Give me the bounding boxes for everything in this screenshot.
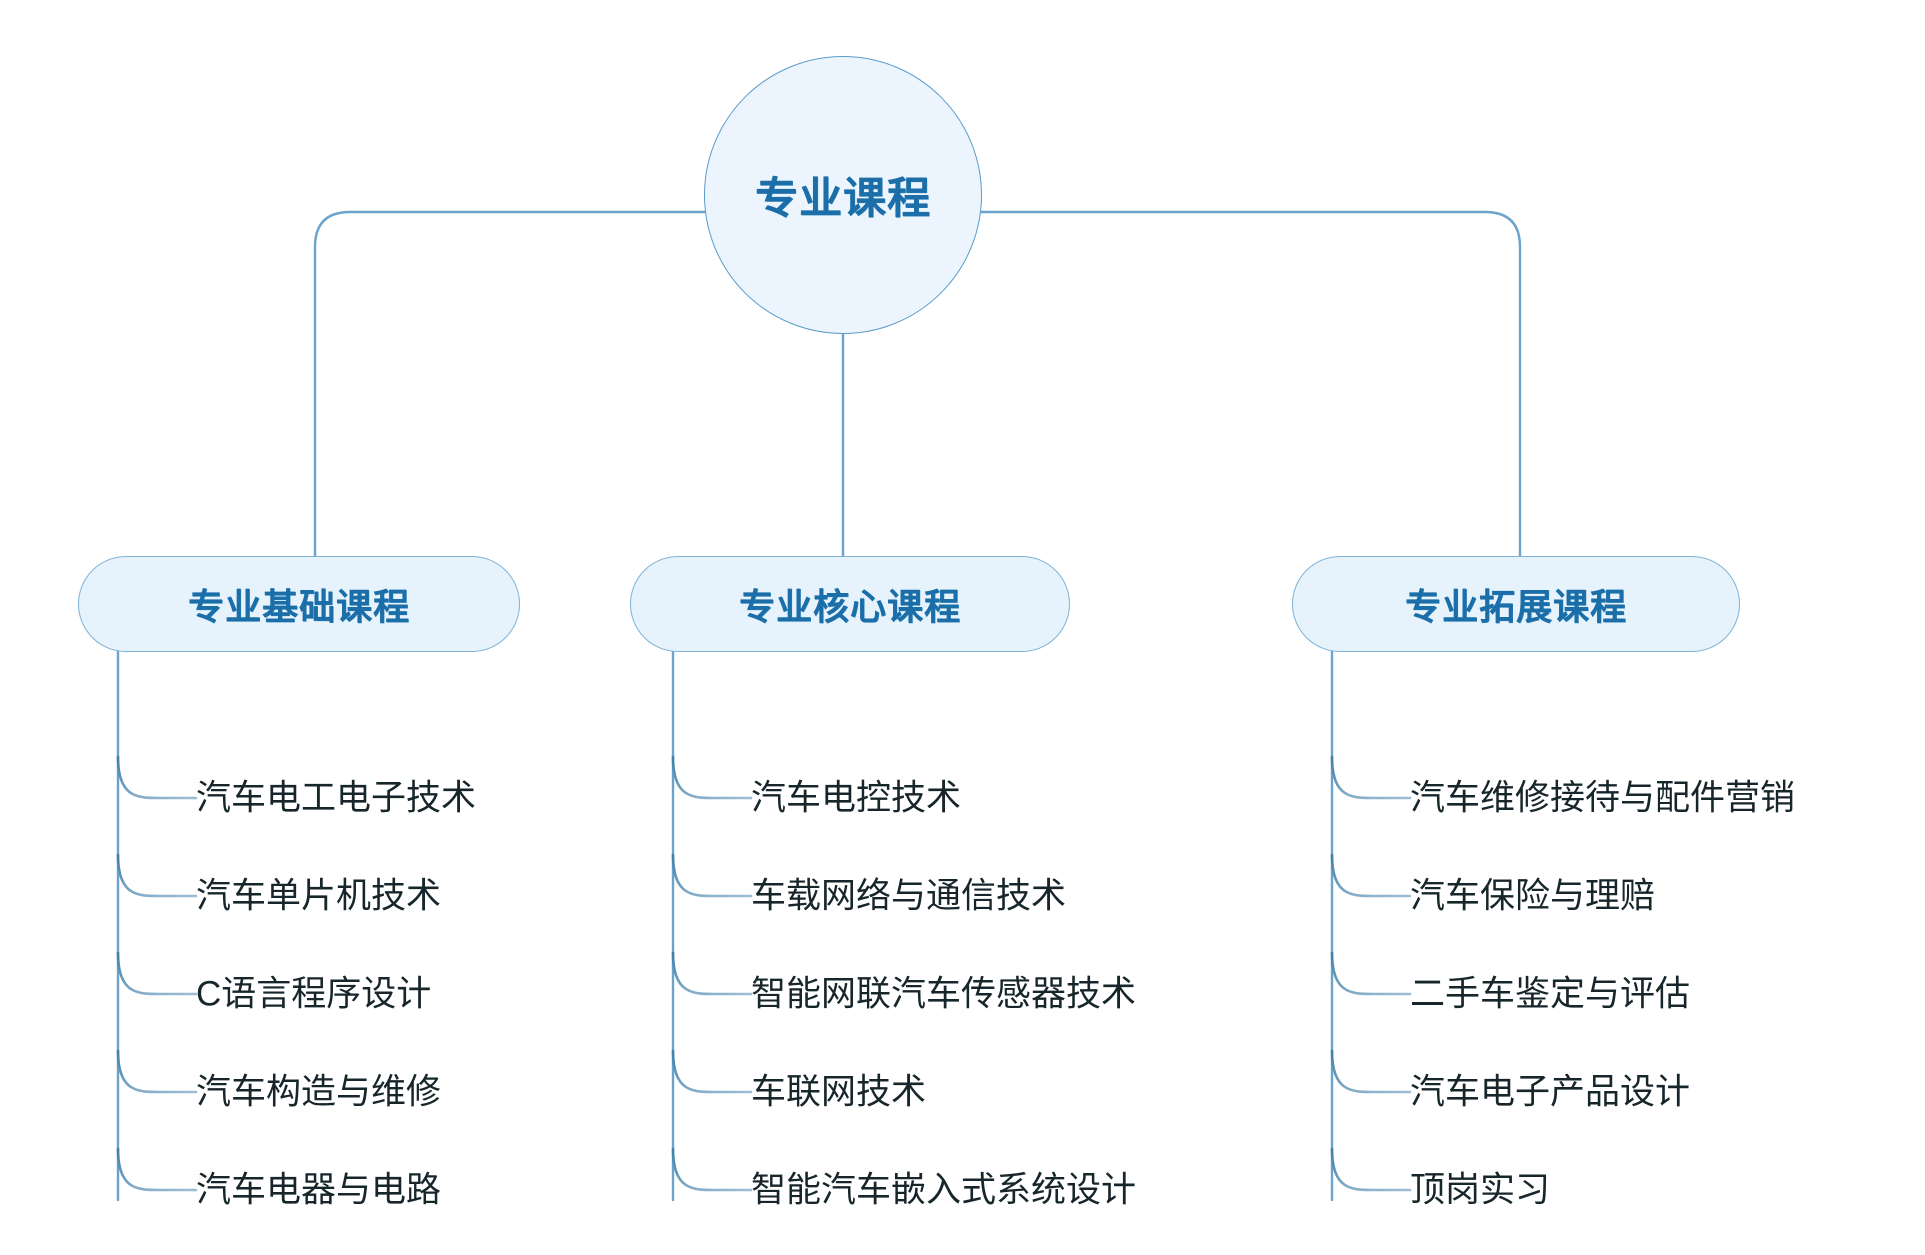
leaf-item[interactable]: 顶岗实习 [1410, 1173, 1550, 1208]
root-node-label: 专业课程 [755, 164, 931, 226]
leaf-hook-1-2 [118, 855, 196, 896]
leaf-item[interactable]: 二手车鉴定与评估 [1410, 977, 1690, 1012]
leaf-hook-1-4 [118, 1051, 196, 1092]
leaf-item[interactable]: 汽车电器与电路 [196, 1173, 441, 1208]
leaf-hook-1-3 [118, 953, 196, 994]
leaf-hook-2-3 [673, 953, 751, 994]
leaf-hook-3-5 [1332, 1149, 1410, 1190]
leaf-hook-3-4 [1332, 1051, 1410, 1092]
leaf-hook-2-5 [673, 1149, 751, 1190]
leaf-item[interactable]: 汽车单片机技术 [196, 879, 441, 914]
leaf-hook-3-1 [1332, 757, 1410, 798]
branch-node-1[interactable]: 专业基础课程 [78, 556, 520, 652]
leaf-hook-1-5 [118, 1149, 196, 1190]
leaf-item[interactable]: 汽车构造与维修 [196, 1075, 441, 1110]
leaf-item[interactable]: 汽车维修接待与配件营销 [1410, 781, 1795, 816]
branch-node-1-label: 专业基础课程 [188, 578, 410, 630]
leaf-item[interactable]: 车载网络与通信技术 [751, 879, 1066, 914]
branch-node-2-label: 专业核心课程 [739, 578, 961, 630]
leaf-item[interactable]: 汽车电控技术 [751, 781, 961, 816]
leaf-item[interactable]: 汽车电工电子技术 [196, 781, 476, 816]
root-node[interactable]: 专业课程 [704, 56, 982, 334]
leaf-item[interactable]: 汽车保险与理赔 [1410, 879, 1655, 914]
leaf-hook-2-4 [673, 1051, 751, 1092]
mindmap-canvas: 专业课程 专业基础课程 专业核心课程 专业拓展课程 汽车电工电子技术 汽车单片机… [0, 0, 1925, 1255]
leaf-hook-1-1 [118, 757, 196, 798]
branch-node-3-label: 专业拓展课程 [1405, 578, 1627, 630]
leaf-item[interactable]: 汽车电子产品设计 [1410, 1075, 1690, 1110]
branch-node-3[interactable]: 专业拓展课程 [1292, 556, 1740, 652]
leaf-hook-2-2 [673, 855, 751, 896]
leaf-item[interactable]: C语言程序设计 [196, 977, 431, 1012]
leaf-hook-3-2 [1332, 855, 1410, 896]
leaf-item[interactable]: 智能汽车嵌入式系统设计 [751, 1173, 1136, 1208]
branch-node-2[interactable]: 专业核心课程 [630, 556, 1070, 652]
leaf-item[interactable]: 车联网技术 [751, 1075, 926, 1110]
leaf-hook-2-1 [673, 757, 751, 798]
leaf-item[interactable]: 智能网联汽车传感器技术 [751, 977, 1136, 1012]
leaf-hook-3-3 [1332, 953, 1410, 994]
